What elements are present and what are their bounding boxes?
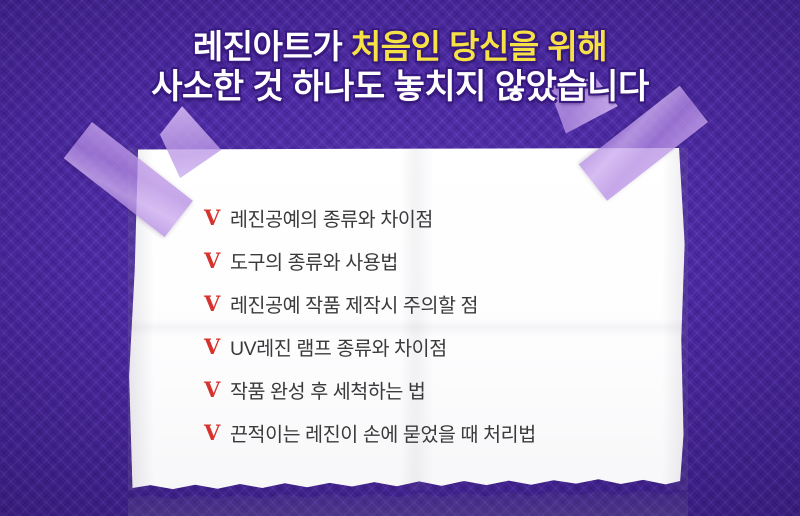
check-v-icon: V <box>204 207 230 228</box>
check-v-icon: V <box>204 336 230 357</box>
check-v-icon: V <box>204 422 230 443</box>
list-item-label: UV레진 램프 종류와 차이점 <box>230 332 447 361</box>
check-v-icon: V <box>204 379 230 400</box>
headline-line-1: 레진아트가 처음인 당신을 위해 <box>0 28 800 67</box>
list-item: V 도구의 종류와 사용법 <box>204 239 536 282</box>
list-item-label: 레진공예의 종류와 차이점 <box>230 203 433 232</box>
checklist: V 레진공예의 종류와 차이점 V 도구의 종류와 사용법 V 레진공예 작품 … <box>204 196 536 454</box>
headline-line-1-white: 레진아트가 <box>193 28 342 65</box>
list-item: V UV레진 램프 종류와 차이점 <box>204 325 536 368</box>
list-item-label: 레진공예 작품 제작시 주의할 점 <box>230 289 478 318</box>
list-item: V 레진공예의 종류와 차이점 <box>204 196 536 239</box>
promo-banner: 레진아트가 처음인 당신을 위해 사소한 것 하나도 놓치지 않았습니다 V 레… <box>0 0 800 516</box>
list-item: V 작품 완성 후 세척하는 법 <box>204 368 536 411</box>
list-item: V 레진공예 작품 제작시 주의할 점 <box>204 282 536 325</box>
headline: 레진아트가 처음인 당신을 위해 사소한 것 하나도 놓치지 않았습니다 <box>0 28 800 107</box>
list-item-label: 도구의 종류와 사용법 <box>230 246 398 275</box>
list-item: V 끈적이는 레진이 손에 묻었을 때 처리법 <box>204 411 536 454</box>
list-item-label: 작품 완성 후 세척하는 법 <box>230 375 425 404</box>
headline-line-1-accent: 처음인 당신을 위해 <box>351 28 607 65</box>
list-item-label: 끈적이는 레진이 손에 묻었을 때 처리법 <box>230 418 536 447</box>
check-v-icon: V <box>204 250 230 271</box>
check-v-icon: V <box>204 293 230 314</box>
paper-sheet: V 레진공예의 종류와 차이점 V 도구의 종류와 사용법 V 레진공예 작품 … <box>128 148 688 516</box>
headline-line-2: 사소한 것 하나도 놓치지 않았습니다 <box>0 67 800 107</box>
